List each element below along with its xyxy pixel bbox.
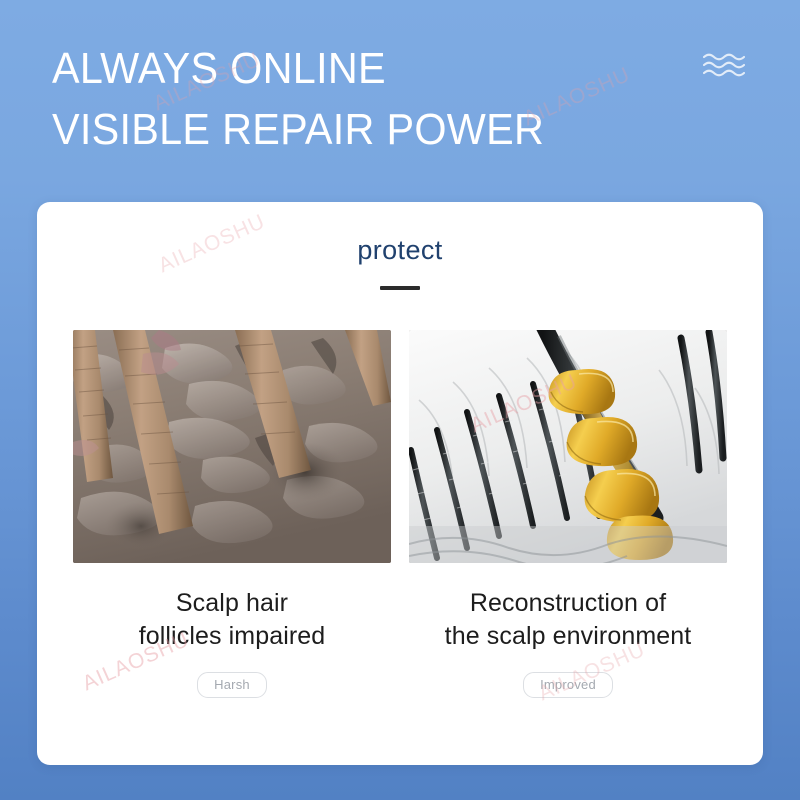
comparison-column-before: Scalp hair follicles impaired Harsh [73, 330, 391, 698]
repaired-hair-render[interactable] [409, 330, 727, 563]
caption-before-line-1: Scalp hair [139, 587, 326, 620]
promo-banner-page: ALWAYS ONLINE VISIBLE REPAIR POWER AILAO… [0, 0, 800, 800]
wave-lines-icon [703, 52, 745, 78]
caption-after-line-1: Reconstruction of [445, 587, 692, 620]
comparison-columns: Scalp hair follicles impaired Harsh [73, 330, 728, 698]
caption-after: Reconstruction of the scalp environment [445, 587, 692, 653]
headline: ALWAYS ONLINE VISIBLE REPAIR POWER [52, 38, 544, 160]
caption-before: Scalp hair follicles impaired [139, 587, 326, 653]
title-underline-rule [380, 286, 420, 290]
headline-line-1: ALWAYS ONLINE [52, 38, 544, 99]
page-header: ALWAYS ONLINE VISIBLE REPAIR POWER [0, 0, 800, 200]
caption-after-line-2: the scalp environment [445, 620, 692, 653]
damaged-scalp-micrograph[interactable] [73, 330, 391, 563]
section-title: protect [37, 235, 763, 266]
caption-before-line-2: follicles impaired [139, 620, 326, 653]
status-badge-improved: Improved [523, 672, 613, 698]
comparison-column-after: Reconstruction of the scalp environment … [409, 330, 727, 698]
status-badge-harsh: Harsh [197, 672, 267, 698]
headline-line-2: VISIBLE REPAIR POWER [52, 99, 544, 160]
protect-card: protect [37, 202, 763, 765]
